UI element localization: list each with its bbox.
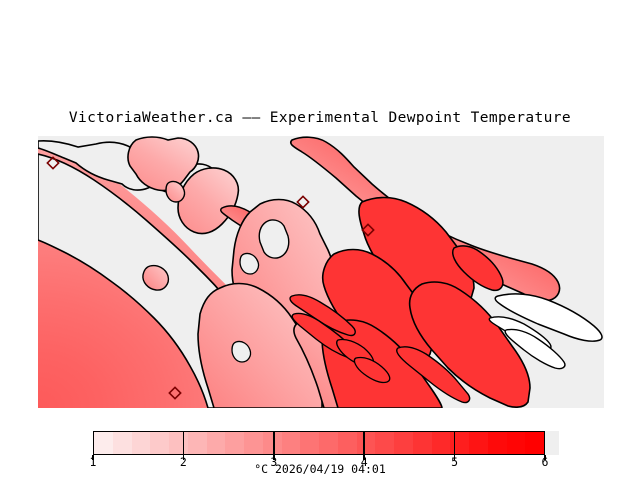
colorbar-swatch [300, 432, 319, 454]
dewpoint-contour-map[interactable] [38, 136, 604, 408]
colorbar-swatch [375, 432, 394, 454]
colorbar-divider [363, 431, 365, 455]
colorbar-gradient[interactable] [93, 431, 545, 455]
map-panel[interactable] [38, 136, 604, 408]
colorbar-tick-label: 3 [270, 455, 277, 469]
colorbar-overflow-region [545, 431, 559, 455]
colorbar-swatch [525, 432, 544, 454]
colorbar-tick-label: 4 [361, 455, 368, 469]
colorbar-swatch [188, 432, 207, 454]
colorbar-swatch [338, 432, 357, 454]
colorbar-tick-label: 2 [180, 455, 187, 469]
colorbar-swatch [469, 432, 488, 454]
colorbar-swatch [207, 432, 226, 454]
colorbar-swatch [113, 432, 132, 454]
colorbar-swatch [507, 432, 526, 454]
colorbar-swatch [319, 432, 338, 454]
colorbar-tick-label: 1 [90, 455, 97, 469]
colorbar-swatch [132, 432, 151, 454]
colorbar-divider [454, 431, 456, 455]
colorbar-swatch [282, 432, 301, 454]
colorbar-divider [183, 431, 185, 455]
colorbar-swatch [394, 432, 413, 454]
weather-map-page: VictoriaWeather.ca —— Experimental Dewpo… [0, 0, 640, 480]
colorbar-tick-label: 6 [542, 455, 549, 469]
colorbar-swatch [413, 432, 432, 454]
page-title: VictoriaWeather.ca —— Experimental Dewpo… [0, 110, 640, 126]
colorbar-swatch [357, 432, 376, 454]
colorbar-swatch [432, 432, 451, 454]
colorbar-swatch [488, 432, 507, 454]
colorbar-swatch [150, 432, 169, 454]
colorbar-swatch [225, 432, 244, 454]
colorbar[interactable] [93, 431, 545, 455]
colorbar-tick-label: 5 [451, 455, 458, 469]
colorbar-divider [273, 431, 275, 455]
colorbar-swatch [94, 432, 113, 454]
colorbar-swatch [244, 432, 263, 454]
colorbar-swatch [169, 432, 188, 454]
